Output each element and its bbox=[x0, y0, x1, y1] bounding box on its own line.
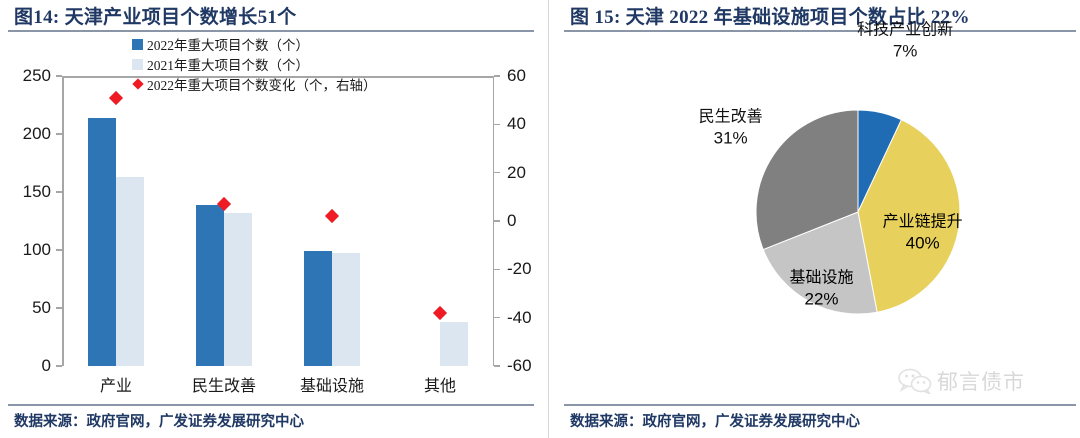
x-axis-tick-label: 民生改善 bbox=[192, 372, 256, 396]
y-axis-right-tick-label: 20 bbox=[507, 164, 526, 181]
pie-label-name: 基础设施 bbox=[790, 270, 854, 287]
x-axis-tick-label: 产业 bbox=[100, 372, 132, 396]
change-marker bbox=[326, 210, 338, 222]
legend-item-2022: 2022年重大项目个数（个） bbox=[132, 34, 377, 54]
change-marker bbox=[218, 198, 230, 210]
y-axis-left-tick-label: 0 bbox=[42, 357, 51, 374]
pie-label-name: 产业链提升 bbox=[883, 214, 963, 231]
bar-chart-plot-area: 050100150200250-60-40-200204060产业民生改善基础设… bbox=[62, 76, 494, 366]
y-axis-right-tick-label: -60 bbox=[507, 357, 532, 374]
y-axis-right-tick bbox=[494, 75, 500, 77]
y-axis-left-tick bbox=[56, 75, 62, 77]
figure-pair-page: 图14: 天津产业项目个数增长51个 2022年重大项目个数（个） 2021年重… bbox=[0, 0, 1080, 438]
figure-14-title-rule bbox=[8, 30, 534, 32]
figure-14-title: 图14: 天津产业项目个数增长51个 bbox=[14, 2, 296, 29]
y-axis-right-tick-label: -40 bbox=[507, 309, 532, 326]
y-axis-left-tick-label: 50 bbox=[32, 299, 51, 316]
figure-14-footer-rule bbox=[8, 404, 534, 406]
pie-label-percent: 7% bbox=[857, 40, 953, 61]
panel-divider bbox=[548, 0, 549, 438]
y-axis-right-tick bbox=[494, 317, 500, 319]
y-axis-left-tick bbox=[56, 365, 62, 367]
wechat-icon bbox=[898, 368, 932, 394]
change-marker bbox=[110, 92, 122, 104]
bar-2021 bbox=[440, 322, 468, 366]
pie-slice-label: 基础设施22% bbox=[790, 269, 854, 310]
change-marker bbox=[434, 307, 446, 319]
y-axis-right-tick-label: 0 bbox=[507, 212, 516, 229]
y-axis-right-tick bbox=[494, 365, 500, 367]
figure-14-source: 数据来源：政府官网，广发证券发展研究中心 bbox=[14, 410, 304, 431]
y-axis-left-tick-label: 100 bbox=[23, 241, 51, 258]
y-axis-left-tick-label: 200 bbox=[23, 125, 51, 142]
figure-15-footer-rule bbox=[564, 404, 1076, 406]
y-axis-right-tick-label: 40 bbox=[507, 115, 526, 132]
x-axis-tick-label: 基础设施 bbox=[300, 372, 364, 396]
y-axis-left-tick bbox=[56, 307, 62, 309]
y-axis-left-tick bbox=[56, 249, 62, 251]
pie-label-name: 科技产业创新 bbox=[857, 21, 953, 38]
pie-label-percent: 40% bbox=[883, 233, 963, 254]
bar-2021 bbox=[224, 213, 252, 366]
legend-item-2021: 2021年重大项目个数（个） bbox=[132, 54, 377, 74]
y-axis-right-tick bbox=[494, 269, 500, 271]
pie-label-percent: 22% bbox=[790, 289, 854, 310]
figure-15-source: 数据来源：政府官网，广发证券发展研究中心 bbox=[570, 410, 860, 431]
pie-slice-label: 科技产业创新7% bbox=[857, 20, 953, 61]
y-axis-left-tick bbox=[56, 133, 62, 135]
y-axis-left-tick-label: 250 bbox=[23, 67, 51, 84]
bar-2022 bbox=[304, 251, 332, 366]
legend-swatch-2021-icon bbox=[132, 59, 143, 70]
y-axis-right-tick bbox=[494, 172, 500, 174]
x-axis-tick-label: 其他 bbox=[424, 372, 456, 396]
y-axis-left-tick-label: 150 bbox=[23, 183, 51, 200]
y-axis-right-tick bbox=[494, 124, 500, 126]
y-axis-left bbox=[62, 76, 64, 366]
pie-label-name: 民生改善 bbox=[699, 109, 763, 126]
bar-2022 bbox=[88, 118, 116, 366]
y-axis-right-tick-label: 60 bbox=[507, 67, 526, 84]
figure-14-panel: 图14: 天津产业项目个数增长51个 2022年重大项目个数（个） 2021年重… bbox=[0, 0, 540, 438]
bar-2021 bbox=[116, 177, 144, 366]
pie-slice-label: 产业链提升40% bbox=[883, 213, 963, 254]
pie-slice-label: 民生改善31% bbox=[699, 108, 763, 149]
y-axis-left-tick bbox=[56, 191, 62, 193]
y-axis-right-tick bbox=[494, 220, 500, 222]
legend-label-2021: 2021年重大项目个数（个） bbox=[147, 54, 309, 74]
watermark-text: 郁言债市 bbox=[937, 366, 1025, 396]
bar-2022 bbox=[196, 205, 224, 366]
pie-label-percent: 31% bbox=[699, 128, 763, 149]
legend-swatch-2022-icon bbox=[132, 39, 143, 50]
watermark: 郁言债市 bbox=[898, 366, 1025, 396]
legend-label-2022: 2022年重大项目个数（个） bbox=[147, 34, 309, 54]
x-axis bbox=[62, 76, 494, 78]
bar-2021 bbox=[332, 253, 360, 366]
y-axis-right-tick-label: -20 bbox=[507, 260, 532, 277]
